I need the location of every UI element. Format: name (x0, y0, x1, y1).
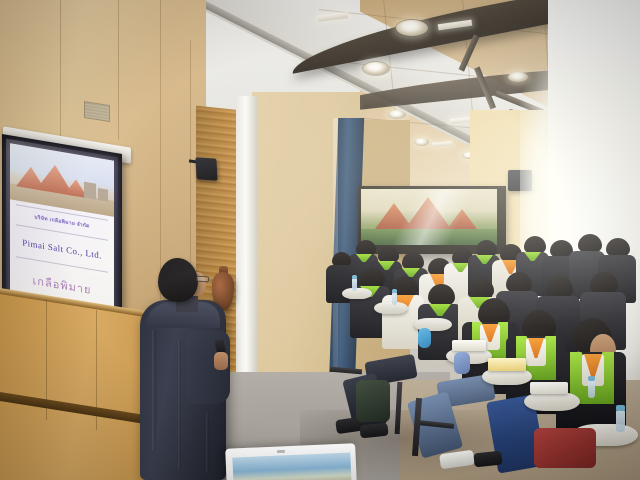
wall-seam (118, 0, 119, 140)
ceiling-downlight (414, 138, 429, 146)
shirt-fold (152, 330, 156, 450)
artwork-glass-glare (361, 189, 497, 245)
blue-folder (454, 352, 470, 374)
tablet-arm-tray (342, 288, 372, 299)
water-bottle (392, 292, 397, 305)
ceiling-downlight (396, 20, 428, 36)
tablet-arm-tray (524, 392, 580, 411)
student-shoe (473, 451, 502, 468)
lunch-box (452, 340, 486, 351)
presenter-glasses-icon (196, 276, 209, 283)
lunch-box (530, 382, 568, 394)
wall-speaker-left-icon (195, 157, 217, 181)
backpack (356, 380, 390, 422)
laptop-camera-icon (277, 450, 285, 453)
shirt-fold (178, 340, 181, 470)
ceiling-downlight (388, 110, 406, 119)
bottle-cap (588, 376, 595, 381)
photo-scene: บริษัท เกลือพิมาย จำกัด Pimai Salt Co., … (0, 0, 640, 480)
presenter-hand (214, 352, 228, 370)
wainscot-seam (96, 310, 97, 430)
water-bottle (352, 278, 357, 291)
wainscot-seam (46, 300, 47, 420)
laptop-screen (232, 452, 351, 480)
red-bag (534, 428, 596, 468)
shirt-fold (206, 412, 209, 472)
lunch-box (488, 358, 526, 371)
water-bottle (616, 410, 625, 432)
tablet-arm-tray (374, 302, 408, 314)
slide-building (98, 188, 108, 202)
wall-seam (160, 0, 161, 300)
bottle-cap (616, 405, 625, 411)
presenter-head (158, 258, 198, 302)
bottle-cap (352, 275, 357, 279)
slide-building (84, 182, 96, 200)
wall-seam (60, 0, 61, 150)
ceiling-downlight (363, 62, 389, 75)
water-bottle (588, 380, 595, 398)
bottle-cap (392, 289, 397, 293)
blue-folder (418, 328, 431, 348)
